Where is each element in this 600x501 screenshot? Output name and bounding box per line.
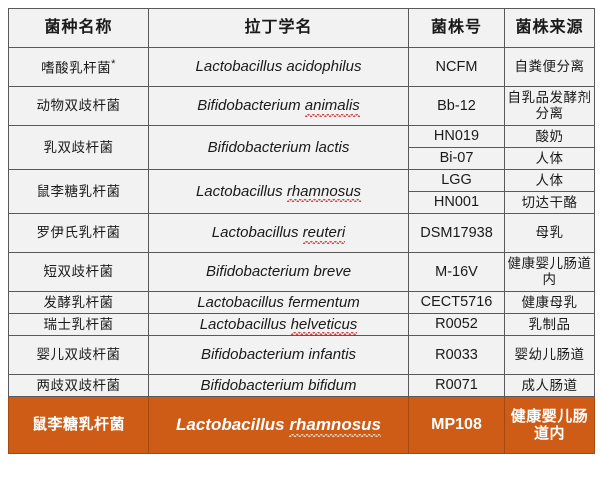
cell-strain-name: 嗜酸乳杆菌*	[9, 48, 149, 87]
table-row: 罗伊氏乳杆菌 Lactobacillus reuteri DSM17938 母乳	[9, 214, 595, 253]
cell-latin-name: Bifidobacterium bifidum	[149, 375, 409, 397]
table-row: 短双歧杆菌 Bifidobacterium breve M-16V 健康婴儿肠道…	[9, 253, 595, 292]
cell-latin-name: Lactobacillus rhamnosus	[149, 397, 409, 454]
cell-latin-name: Bifidobacterium lactis	[149, 126, 409, 170]
cell-latin-name: Lactobacillus rhamnosus	[149, 170, 409, 214]
cell-strain-source: 自乳品发酵剂分离	[505, 87, 595, 126]
cell-latin-name: Lactobacillus reuteri	[149, 214, 409, 253]
cell-strain-name: 罗伊氏乳杆菌	[9, 214, 149, 253]
cell-strain-source: 乳制品	[505, 314, 595, 336]
cell-strain-code: M-16V	[409, 253, 505, 292]
misspelled-word: reuteri	[303, 224, 346, 241]
table-row: 乳双歧杆菌 Bifidobacterium lactis HN019 酸奶	[9, 126, 595, 148]
cell-strain-source: 健康母乳	[505, 292, 595, 314]
cell-strain-name: 两歧双歧杆菌	[9, 375, 149, 397]
cell-strain-source: 健康婴儿肠道内	[505, 397, 595, 454]
cell-strain-code: Bb-12	[409, 87, 505, 126]
cell-latin-name: Lactobacillus fermentum	[149, 292, 409, 314]
table-row-highlighted: 鼠李糖乳杆菌 Lactobacillus rhamnosus MP108 健康婴…	[9, 397, 595, 454]
cell-strain-name: 瑞士乳杆菌	[9, 314, 149, 336]
column-header-strain-code: 菌株号	[409, 9, 505, 48]
cell-latin-name: Bifidobacterium animalis	[149, 87, 409, 126]
table-row: 嗜酸乳杆菌* Lactobacillus acidophilus NCFM 自粪…	[9, 48, 595, 87]
probiotic-strain-table: 菌种名称 拉丁学名 菌株号 菌株来源 嗜酸乳杆菌* Lactobacillus …	[8, 8, 595, 454]
misspelled-word: rhamnosus	[289, 415, 381, 435]
cell-strain-code: R0071	[409, 375, 505, 397]
cell-strain-code: Bi-07	[409, 148, 505, 170]
cell-strain-source: 婴幼儿肠道	[505, 336, 595, 375]
footnote-asterisk: *	[111, 58, 116, 70]
cell-strain-name: 动物双歧杆菌	[9, 87, 149, 126]
cell-strain-source: 酸奶	[505, 126, 595, 148]
cell-latin-name: Bifidobacterium breve	[149, 253, 409, 292]
misspelled-word: rhamnosus	[287, 183, 361, 200]
column-header-latin-name: 拉丁学名	[149, 9, 409, 48]
table-row: 两歧双歧杆菌 Bifidobacterium bifidum R0071 成人肠…	[9, 375, 595, 397]
misspelled-word: animalis	[305, 97, 360, 114]
table-row: 鼠李糖乳杆菌 Lactobacillus rhamnosus LGG 人体	[9, 170, 595, 192]
cell-strain-name: 鼠李糖乳杆菌	[9, 170, 149, 214]
cell-strain-name: 乳双歧杆菌	[9, 126, 149, 170]
cell-strain-source: 切达干酪	[505, 192, 595, 214]
table-row: 发酵乳杆菌 Lactobacillus fermentum CECT5716 健…	[9, 292, 595, 314]
cell-strain-code: R0033	[409, 336, 505, 375]
cell-strain-source: 人体	[505, 170, 595, 192]
table-header-row: 菌种名称 拉丁学名 菌株号 菌株来源	[9, 9, 595, 48]
column-header-strain-source: 菌株来源	[505, 9, 595, 48]
cell-strain-code: NCFM	[409, 48, 505, 87]
cell-strain-source: 母乳	[505, 214, 595, 253]
cell-strain-code: LGG	[409, 170, 505, 192]
cell-strain-name: 发酵乳杆菌	[9, 292, 149, 314]
cell-strain-name: 鼠李糖乳杆菌	[9, 397, 149, 454]
cell-strain-code: R0052	[409, 314, 505, 336]
cell-strain-source: 健康婴儿肠道内	[505, 253, 595, 292]
cell-latin-name: Bifidobacterium infantis	[149, 336, 409, 375]
cell-strain-code: HN001	[409, 192, 505, 214]
cell-strain-code: HN019	[409, 126, 505, 148]
cell-latin-name: Lactobacillus helveticus	[149, 314, 409, 336]
cell-strain-name: 婴儿双歧杆菌	[9, 336, 149, 375]
cell-strain-name: 短双歧杆菌	[9, 253, 149, 292]
cell-strain-source: 自粪便分离	[505, 48, 595, 87]
cell-latin-name: Lactobacillus acidophilus	[149, 48, 409, 87]
strain-table-container: 菌种名称 拉丁学名 菌株号 菌株来源 嗜酸乳杆菌* Lactobacillus …	[0, 0, 600, 501]
cell-strain-source: 人体	[505, 148, 595, 170]
column-header-strain-name: 菌种名称	[9, 9, 149, 48]
table-row: 瑞士乳杆菌 Lactobacillus helveticus R0052 乳制品	[9, 314, 595, 336]
misspelled-word: helveticus	[291, 316, 358, 333]
table-row: 动物双歧杆菌 Bifidobacterium animalis Bb-12 自乳…	[9, 87, 595, 126]
cell-strain-code: CECT5716	[409, 292, 505, 314]
cell-strain-code: DSM17938	[409, 214, 505, 253]
cell-strain-source: 成人肠道	[505, 375, 595, 397]
table-row: 婴儿双歧杆菌 Bifidobacterium infantis R0033 婴幼…	[9, 336, 595, 375]
cell-strain-code: MP108	[409, 397, 505, 454]
